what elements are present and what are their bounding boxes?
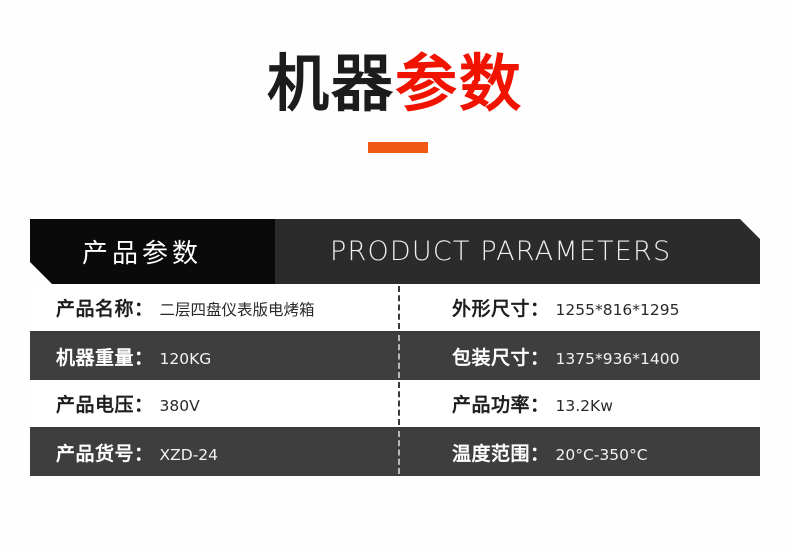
page-root: 机器参数 产品参数 PRODUCT PARAMETERS 产品名称： 二层四盘仪… bbox=[0, 0, 790, 554]
row-dashed-divider bbox=[398, 431, 400, 474]
table-cell-left: 产品电压： 380V bbox=[30, 390, 398, 417]
table-row: 产品名称： 二层四盘仪表版电烤箱 外形尺寸： 1255*816*1295 bbox=[30, 284, 760, 333]
param-value: 20°C-350°C bbox=[556, 446, 648, 464]
param-label: 温度范围： bbox=[452, 439, 550, 466]
page-title: 机器参数 bbox=[0, 46, 790, 124]
product-parameters-card: 产品参数 PRODUCT PARAMETERS 产品名称： 二层四盘仪表版电烤箱… bbox=[30, 219, 760, 476]
param-label: 产品功率： bbox=[452, 390, 550, 417]
table-cell-left: 产品名称： 二层四盘仪表版电烤箱 bbox=[30, 294, 398, 321]
param-label: 机器重量： bbox=[56, 343, 154, 370]
param-label: 产品电压： bbox=[56, 390, 154, 417]
parameters-header-right-slab: PRODUCT PARAMETERS bbox=[275, 219, 760, 284]
param-label: 产品货号： bbox=[56, 439, 154, 466]
param-value: XZD-24 bbox=[160, 446, 219, 464]
param-value: 13.2Kw bbox=[556, 397, 613, 415]
page-title-line: 机器参数 bbox=[0, 46, 790, 124]
row-dashed-divider bbox=[398, 286, 400, 329]
title-underline-bar bbox=[368, 142, 428, 153]
table-cell-left: 产品货号： XZD-24 bbox=[30, 439, 398, 466]
table-cell-right: 温度范围： 20°C-350°C bbox=[398, 439, 760, 466]
table-row: 产品货号： XZD-24 温度范围： 20°C-350°C bbox=[30, 429, 760, 476]
table-cell-left: 机器重量： 120KG bbox=[30, 343, 398, 370]
table-cell-right: 外形尺寸： 1255*816*1295 bbox=[398, 294, 760, 321]
table-row: 产品电压： 380V 产品功率： 13.2Kw bbox=[30, 380, 760, 429]
param-value: 二层四盘仪表版电烤箱 bbox=[160, 298, 315, 320]
parameters-header-bar: 产品参数 PRODUCT PARAMETERS bbox=[30, 219, 760, 284]
page-title-red-part: 参数 bbox=[395, 50, 523, 119]
row-dashed-divider bbox=[398, 382, 400, 425]
param-value: 380V bbox=[160, 397, 200, 415]
param-value: 1255*816*1295 bbox=[556, 301, 680, 319]
param-label: 产品名称： bbox=[56, 294, 154, 321]
table-cell-right: 包装尺寸： 1375*936*1400 bbox=[398, 343, 760, 370]
table-row: 机器重量： 120KG 包装尺寸： 1375*936*1400 bbox=[30, 333, 760, 380]
page-title-black-part: 机器 bbox=[267, 50, 395, 119]
param-label: 包装尺寸： bbox=[452, 343, 550, 370]
parameters-header-cn-label: 产品参数 bbox=[30, 233, 202, 270]
row-dashed-divider bbox=[398, 335, 400, 378]
parameters-header-en-label: PRODUCT PARAMETERS bbox=[275, 236, 671, 267]
param-value: 1375*936*1400 bbox=[556, 350, 680, 368]
parameters-header-left-slab: 产品参数 bbox=[30, 219, 275, 284]
param-value: 120KG bbox=[160, 350, 212, 368]
table-cell-right: 产品功率： 13.2Kw bbox=[398, 390, 760, 417]
param-label: 外形尺寸： bbox=[452, 294, 550, 321]
